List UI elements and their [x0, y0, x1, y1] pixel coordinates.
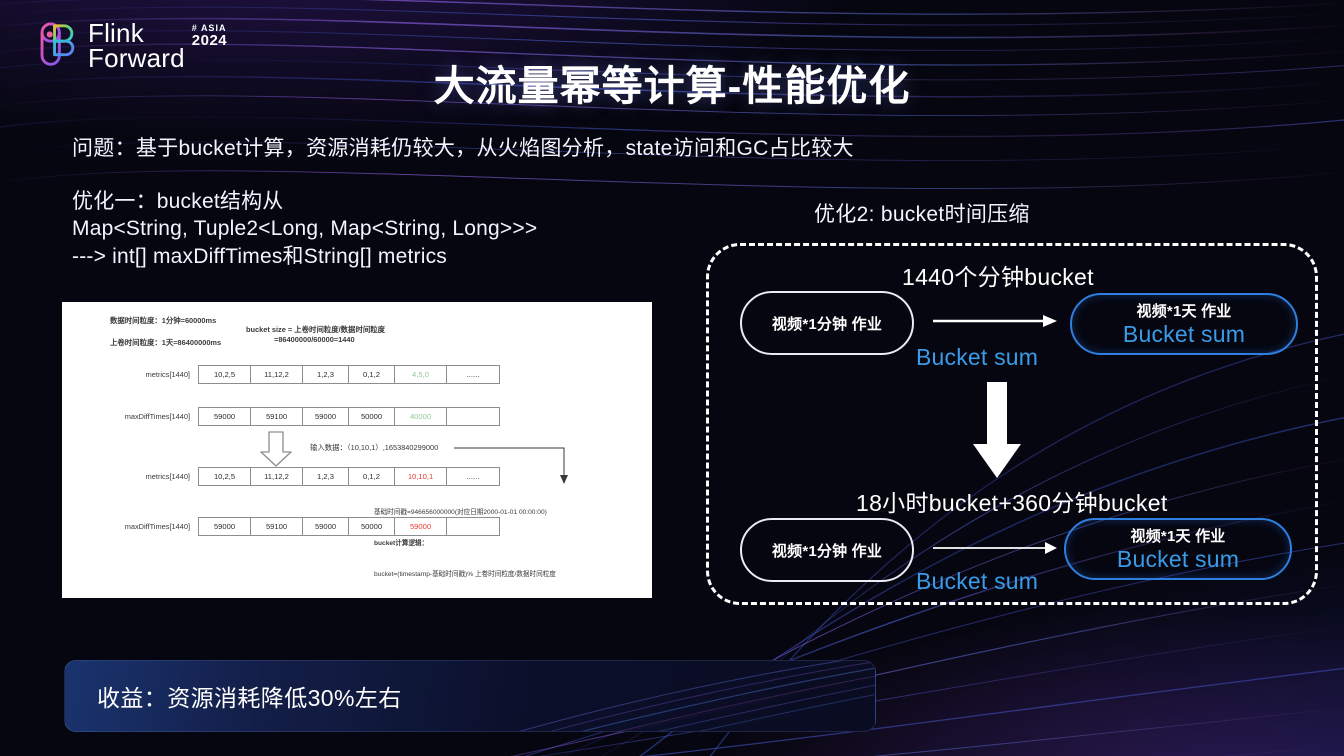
- row-bottom-arrow-label: Bucket sum: [916, 568, 1038, 595]
- calc-bucket-formula: bucket=(timestamp-基础时间戳)% 上卷时间粒度/数据时间粒度: [374, 570, 652, 580]
- figure-table-metrics-top: 10,2,511,12,21,2,30,1,24,5,0......: [198, 365, 500, 384]
- benefit-text: 收益：资源消耗降低30%左右: [97, 679, 402, 713]
- figure-note-bucket-size-2: =86400000/60000=1440: [274, 335, 355, 344]
- figure-table-cell: 59000: [199, 518, 251, 535]
- figure-table-cell: 0,1,2: [349, 468, 395, 485]
- row-bottom-right-pill-sub: 视频*1天 作业: [1131, 525, 1226, 546]
- row-top-caption: 1440个分钟bucket: [902, 258, 1094, 292]
- figure-table-cell: 11,12,2: [251, 468, 303, 485]
- calc-title-bucket-logic: bucket计算逻辑：: [374, 539, 652, 549]
- figure-label-metrics-bottom: metrics[1440]: [72, 472, 190, 481]
- figure-label-metrics-top: metrics[1440]: [72, 370, 190, 379]
- row-top-left-pill-label: 视频*1分钟 作业: [772, 313, 882, 334]
- figure-table-cell: 4,5,0: [395, 366, 447, 383]
- row-bottom-right-pill-main: Bucket sum: [1117, 546, 1239, 573]
- calc-base-timestamp: 基础时间戳=946656000000(对应日期2000-01-01 00:00:…: [374, 508, 652, 518]
- row-top-arrow-label: Bucket sum: [916, 344, 1038, 371]
- optimization-2-title: 优化2: bucket时间压缩: [814, 198, 1030, 228]
- figure-table-cell: 59100: [251, 408, 303, 425]
- figure-label-maxdifftimes-top: maxDiffTimes[1440]: [62, 412, 190, 421]
- logo-badge: # ASIA 2024: [192, 24, 227, 49]
- row-top-right-pill: 视频*1天 作业 Bucket sum: [1070, 293, 1298, 355]
- figure-table-cell: 1,2,3: [303, 366, 349, 383]
- slide-root: Flink Forward # ASIA 2024 大流量幂等计算-性能优化 问…: [0, 0, 1344, 756]
- figure-table-cell: [447, 408, 499, 425]
- figure-table-cell: 10,2,5: [199, 366, 251, 383]
- figure-table-metrics-bottom: 10,2,511,12,21,2,30,1,210,10,1......: [198, 467, 500, 486]
- row-top-right-pill-sub: 视频*1天 作业: [1137, 300, 1232, 321]
- figure-table-cell: ......: [447, 468, 499, 485]
- row-bottom-caption: 18小时bucket+360分钟bucket: [856, 484, 1168, 518]
- figure-table-cell: ......: [447, 366, 499, 383]
- figure-down-block-arrow-icon: [258, 430, 294, 468]
- figure-table-maxdifftimes-top: 5900059100590005000040000: [198, 407, 500, 426]
- figure-table-cell: 59000: [303, 408, 349, 425]
- figure-table-cell: 59000: [303, 518, 349, 535]
- figure-note-rollup-granularity: 上卷时间粒度：1天=86400000ms: [110, 337, 221, 348]
- row-top-right-pill-main: Bucket sum: [1123, 321, 1245, 348]
- figure-table-cell: 10,2,5: [199, 468, 251, 485]
- bucket-structure-figure: 数据时间粒度：1分钟=60000ms 上卷时间粒度：1天=86400000ms …: [62, 302, 652, 598]
- figure-calculation-block: 基础时间戳=946656000000(对应日期2000-01-01 00:00:…: [374, 488, 652, 598]
- row-top-arrow-icon: [933, 313, 1059, 329]
- logo-badge-year: 2024: [192, 33, 227, 49]
- figure-table-cell: 10,10,1: [395, 468, 447, 485]
- figure-table-cell: 11,12,2: [251, 366, 303, 383]
- figure-table-cell: 40000: [395, 408, 447, 425]
- figure-table-cell: 0,1,2: [349, 366, 395, 383]
- figure-label-maxdifftimes-bottom: maxDiffTimes[1440]: [62, 522, 190, 531]
- row-top-left-pill: 视频*1分钟 作业: [740, 291, 914, 355]
- figure-table-cell: 1,2,3: [303, 468, 349, 485]
- figure-note-data-granularity: 数据时间粒度：1分钟=60000ms: [110, 315, 216, 326]
- transform-down-arrow-icon: [968, 382, 1026, 480]
- problem-statement: 问题：基于bucket计算，资源消耗仍较大，从火焰图分析，state访问和GC占…: [72, 132, 854, 162]
- page-title: 大流量幂等计算-性能优化: [0, 52, 1344, 112]
- figure-note-bucket-size-1: bucket size = 上卷时间粒度/数据时间粒度: [246, 324, 385, 335]
- row-bottom-right-pill: 视频*1天 作业 Bucket sum: [1064, 518, 1292, 580]
- row-bottom-left-pill-label: 视频*1分钟 作业: [772, 540, 882, 561]
- figure-table-cell: 50000: [349, 408, 395, 425]
- benefit-banner: 收益：资源消耗降低30%左右: [64, 660, 876, 732]
- row-bottom-arrow-icon: [933, 540, 1059, 556]
- figure-table-cell: 59000: [199, 408, 251, 425]
- optimization-1-heading: 优化一：bucket结构从 Map<String, Tuple2<Long, M…: [72, 188, 537, 270]
- row-bottom-left-pill: 视频*1分钟 作业: [740, 518, 914, 582]
- figure-table-cell: 59100: [251, 518, 303, 535]
- figure-input-data-label: 输入数据：（10,10,1）,1653840299000: [310, 442, 438, 453]
